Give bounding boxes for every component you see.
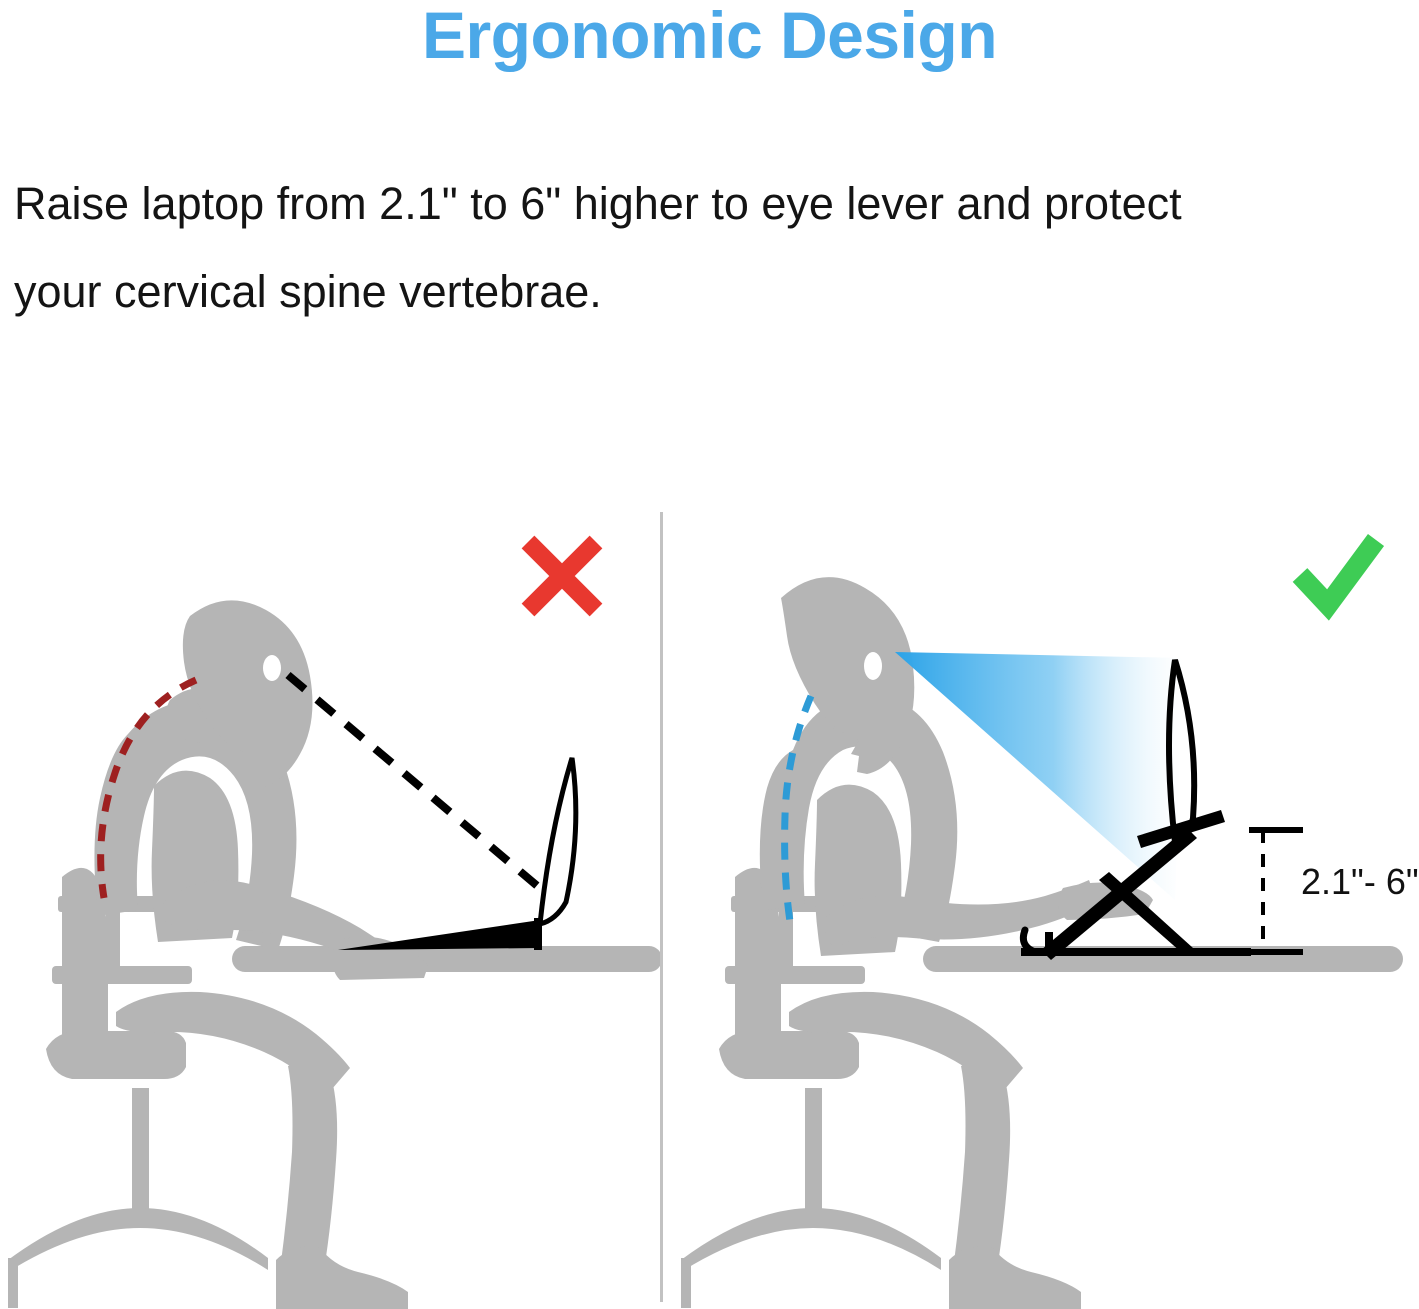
chair-base-caster xyxy=(8,1258,18,1308)
subtitle-line-2: your cervical spine vertebrae. xyxy=(14,248,1394,336)
infographic-page: Ergonomic Design Raise laptop from 2.1" … xyxy=(0,0,1419,1309)
lower-leg xyxy=(953,1062,1010,1270)
chair-armrest xyxy=(725,966,865,984)
correct-mark xyxy=(1286,528,1386,628)
subtitle-line-1: Raise laptop from 2.1" to 6" higher to e… xyxy=(14,160,1394,248)
lower-leg xyxy=(280,1062,337,1270)
chair-base xyxy=(8,1208,268,1272)
stand-rear-post xyxy=(1045,932,1053,954)
eye xyxy=(864,652,882,680)
shoe xyxy=(949,1247,1081,1309)
chair-base-caster xyxy=(681,1258,691,1308)
head xyxy=(183,600,313,788)
incorrect-mark xyxy=(512,528,612,628)
desk-surface xyxy=(232,946,660,972)
chair-seat xyxy=(719,1031,859,1079)
laptop-screen xyxy=(540,758,576,924)
chair-seat xyxy=(46,1031,186,1079)
check-icon xyxy=(1286,528,1386,628)
stand-front-lip xyxy=(1023,930,1035,952)
shoe xyxy=(276,1247,408,1309)
chair-armrest-support xyxy=(106,904,120,982)
eye xyxy=(263,655,281,681)
chair-base xyxy=(681,1208,941,1272)
sight-line xyxy=(288,675,548,895)
dimension-label: 2.1"- 6" xyxy=(1301,864,1419,900)
cross-icon xyxy=(512,528,612,628)
page-title: Ergonomic Design xyxy=(0,2,1419,68)
chair-armrest xyxy=(52,966,192,984)
chair-column xyxy=(805,1088,822,1220)
page-subtitle: Raise laptop from 2.1" to 6" higher to e… xyxy=(14,160,1394,336)
chair-column xyxy=(132,1088,149,1220)
